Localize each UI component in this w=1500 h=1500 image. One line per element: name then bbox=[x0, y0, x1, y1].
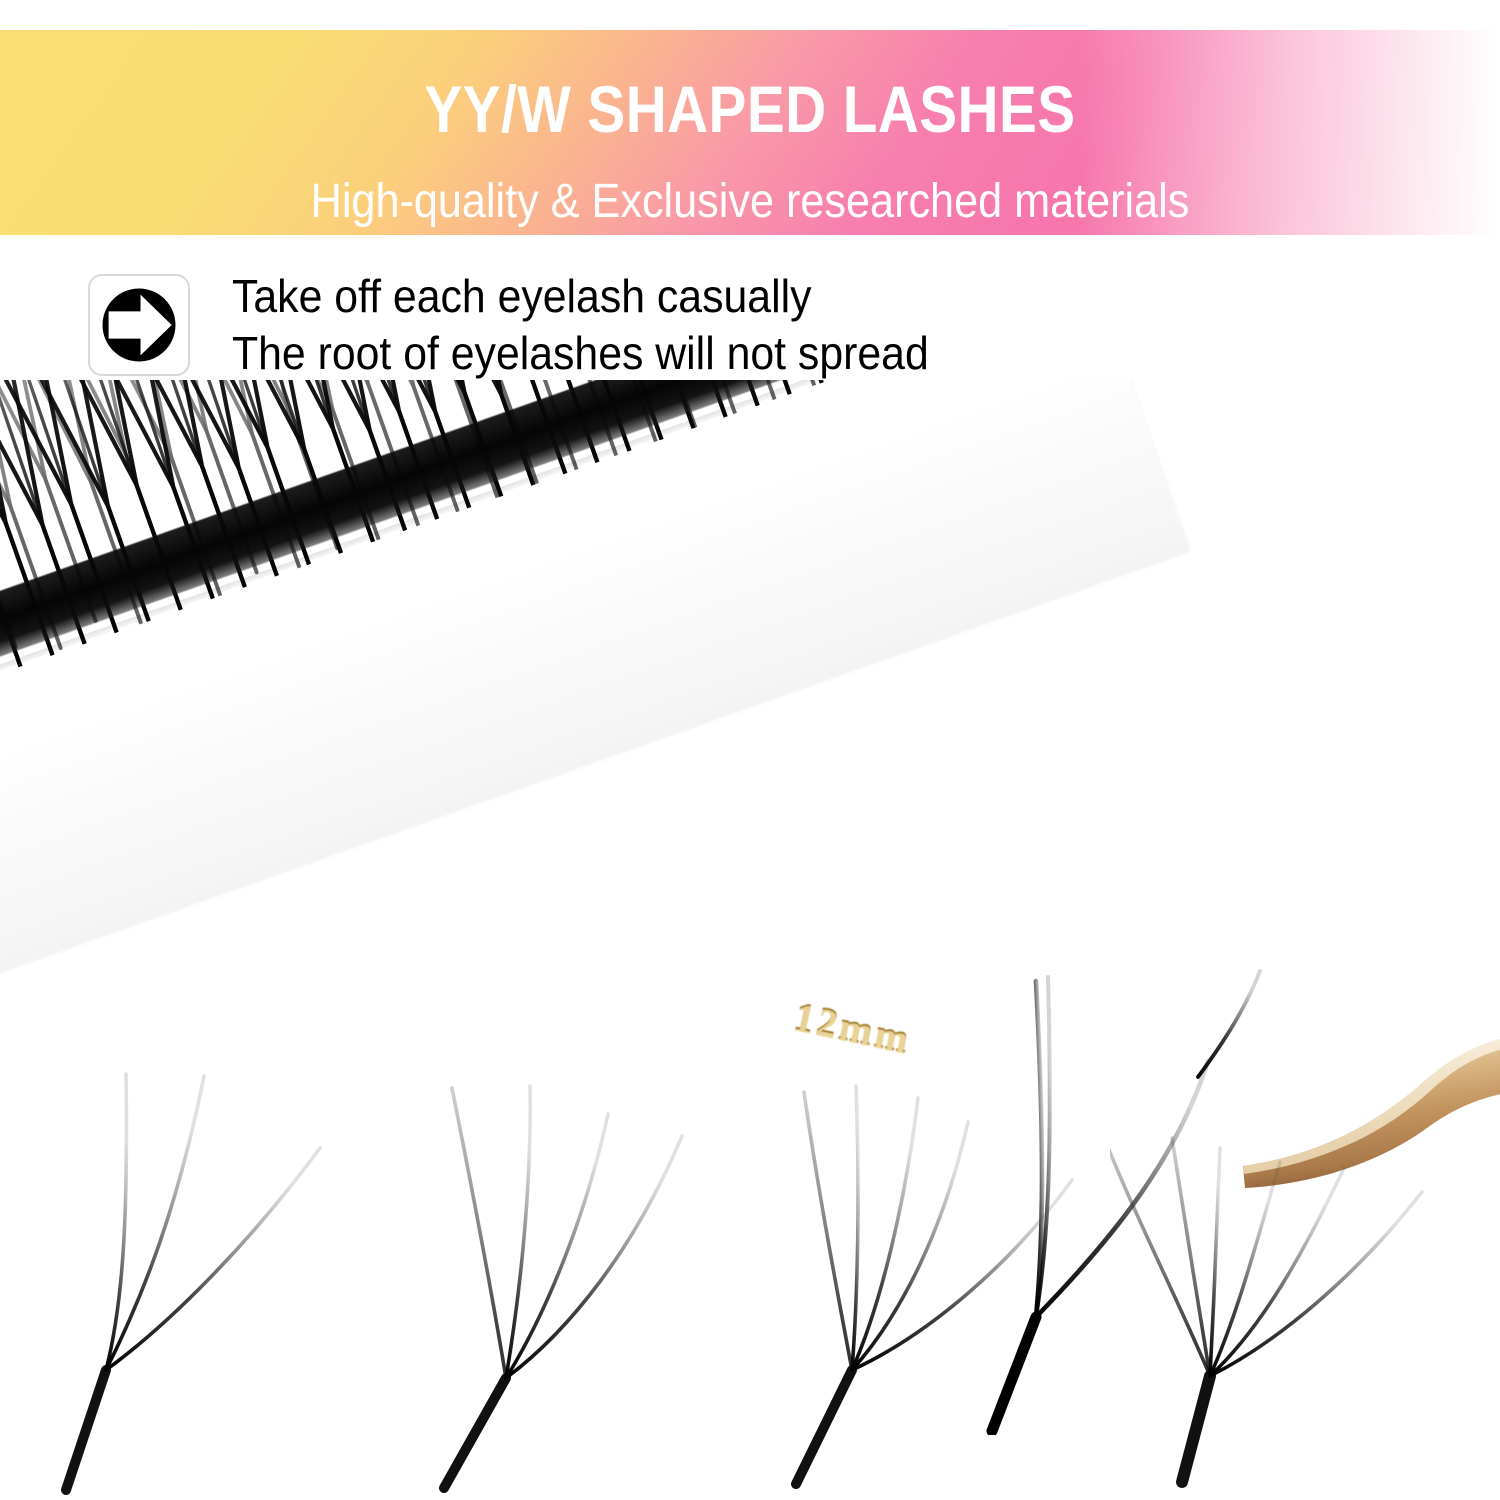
callout-line-2: The root of eyelashes will not spread bbox=[232, 325, 1162, 382]
page-subtitle: High-quality & Exclusive researched mate… bbox=[75, 178, 1425, 226]
fan-specimen-row bbox=[0, 1070, 1500, 1500]
product-photo: 12mm bbox=[0, 380, 1500, 1500]
list-item bbox=[400, 1070, 760, 1500]
callout-row: Take off each eyelash casually The root … bbox=[0, 268, 1500, 388]
size-label: 12mm bbox=[790, 993, 916, 1064]
callout-icon-box bbox=[88, 274, 190, 376]
header-banner: YY/W SHAPED LASHES High-quality & Exclus… bbox=[0, 30, 1500, 235]
callout-text-block: Take off each eyelash casually The root … bbox=[232, 268, 1232, 382]
list-item bbox=[40, 1070, 400, 1500]
arrow-right-circle-icon bbox=[101, 287, 177, 363]
page-title: YY/W SHAPED LASHES bbox=[105, 76, 1395, 142]
list-item bbox=[1110, 1070, 1470, 1500]
list-item bbox=[760, 1070, 1120, 1500]
callout-line-1: Take off each eyelash casually bbox=[232, 268, 1162, 325]
